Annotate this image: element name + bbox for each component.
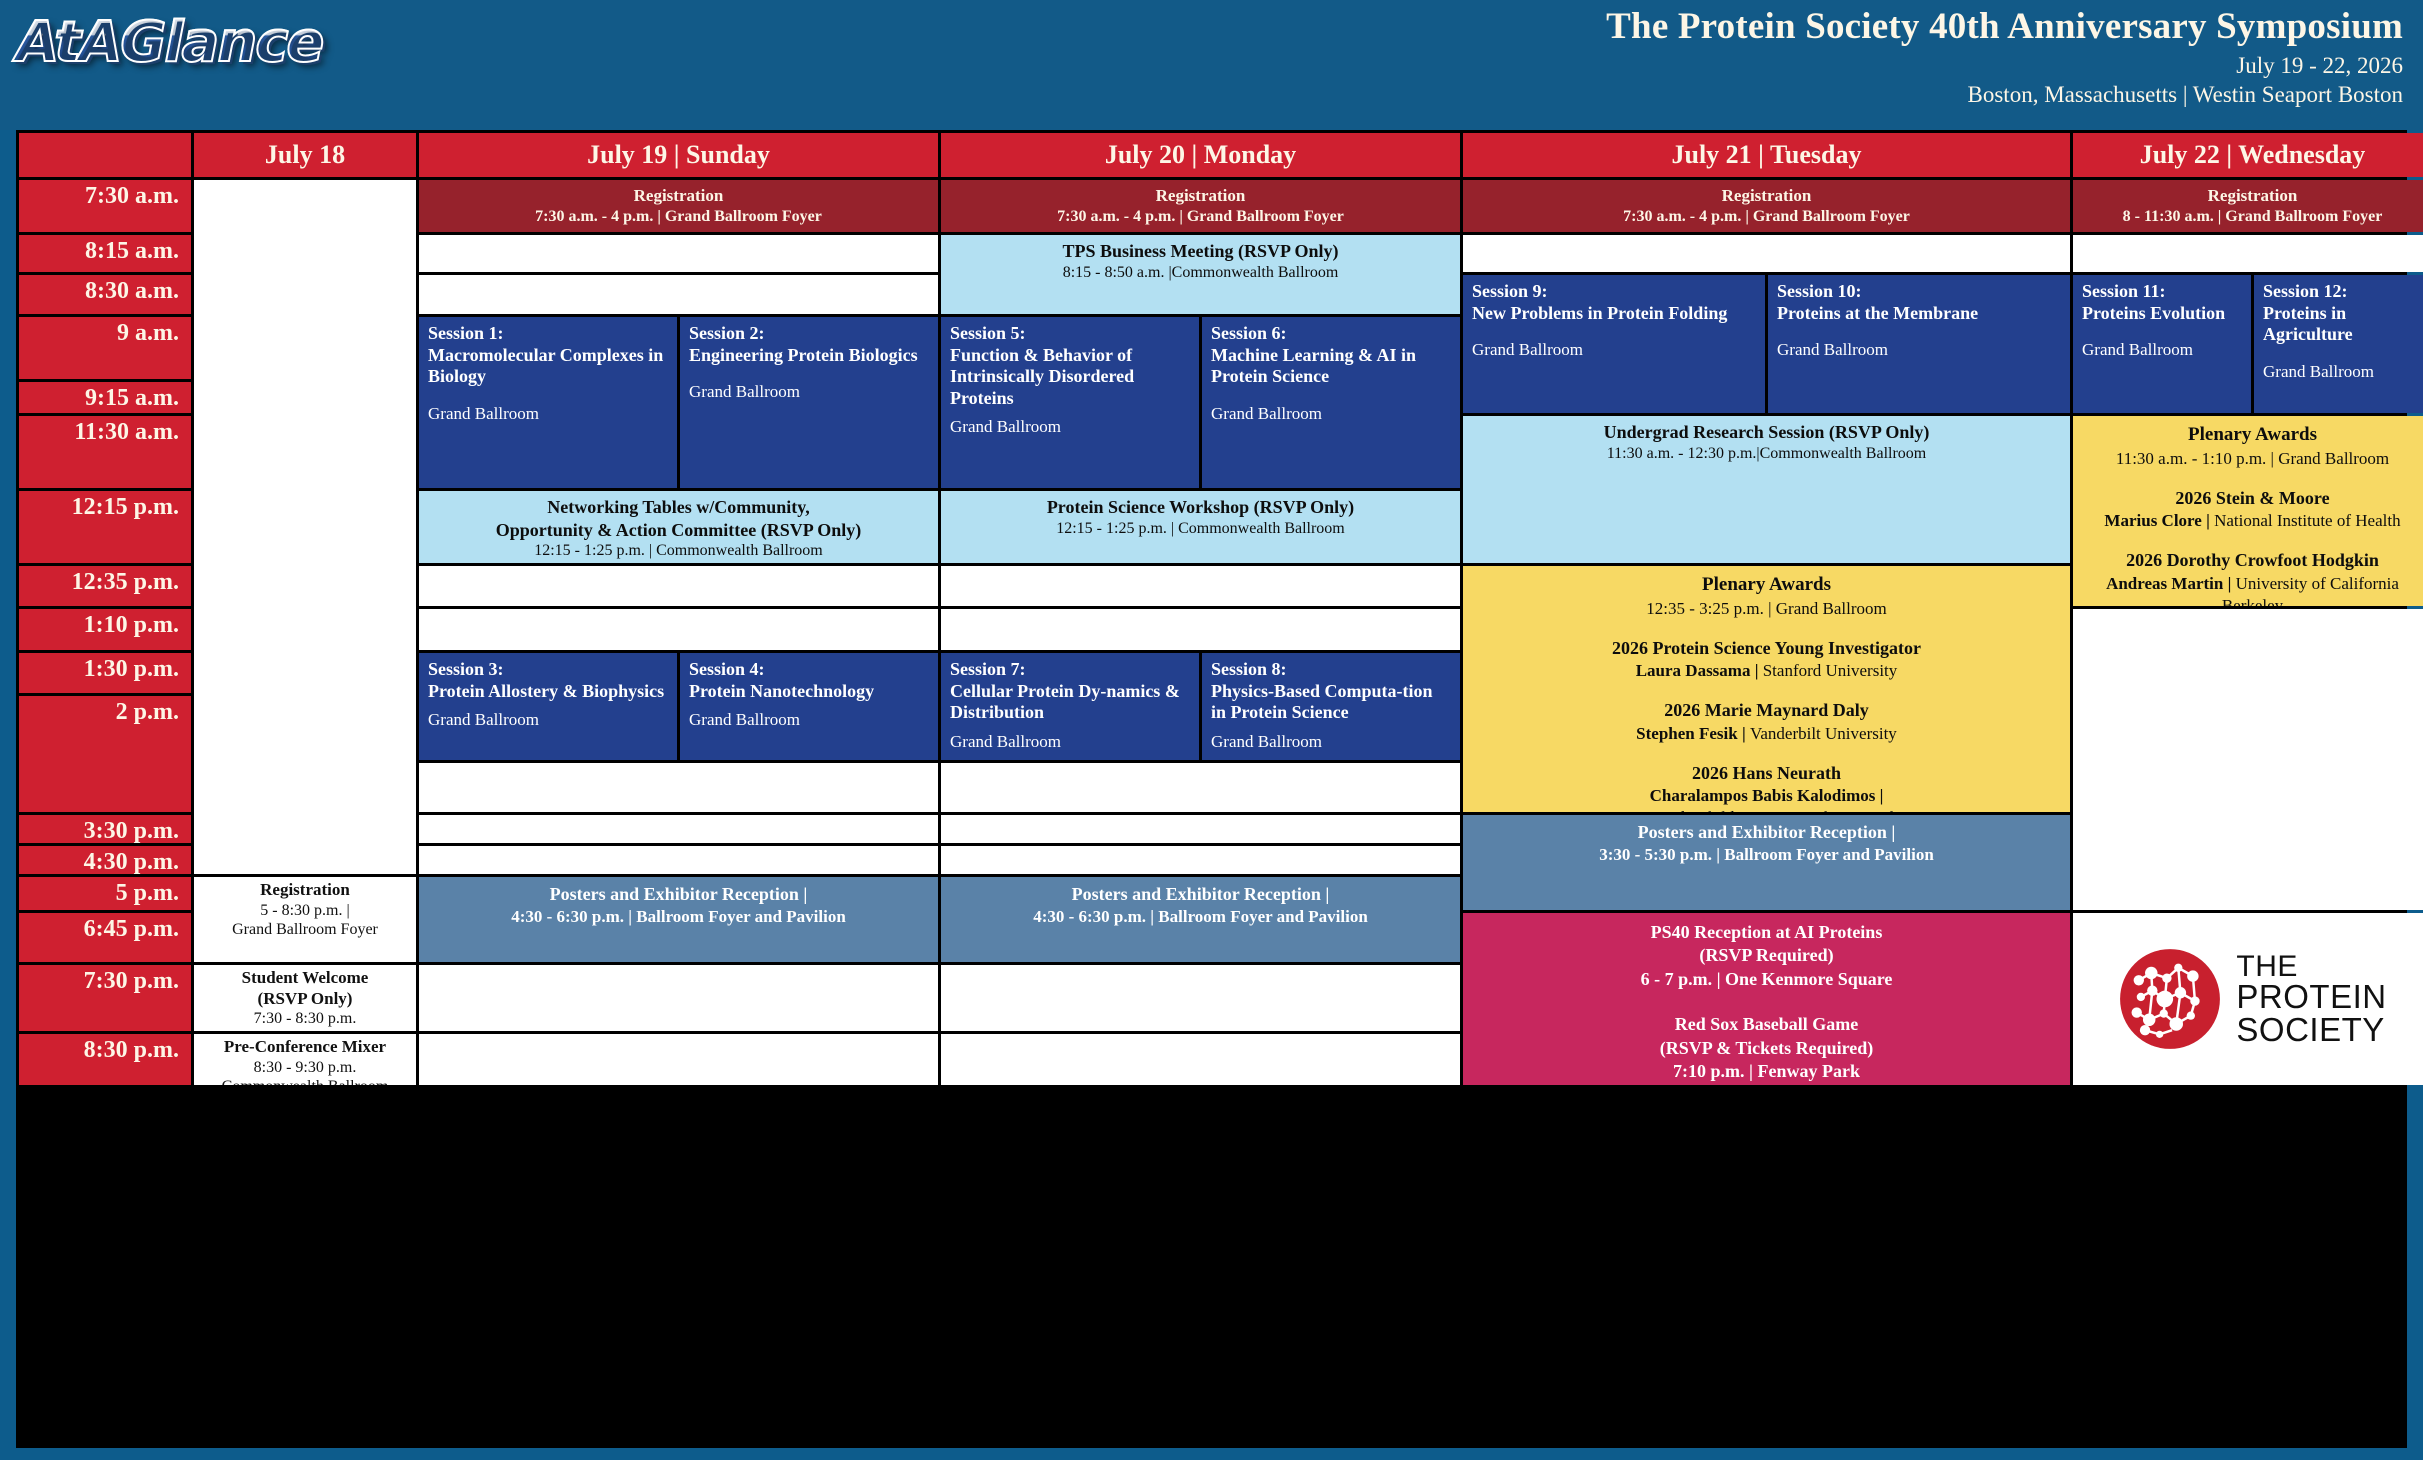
session-1-number: Session 1: [428,323,669,345]
sunday-networking-tables: Networking Tables w/Community, Opportuni… [419,491,938,563]
time-label-0815am: 8:15 a.m. [19,235,191,272]
monday-blank-0730pm [941,965,1460,1031]
tuesday-award-1-institution: Stanford University [1763,661,1898,680]
tuesday-award-3-name: 2026 Hans Neurath [1692,762,1841,785]
student-welcome-line2: (RSVP Only) [258,989,353,1010]
protein-society-mark-icon [2118,947,2222,1051]
sunday-blank-0330 [419,815,938,843]
wednesday-registration-detail: 8 - 11:30 a.m. | Grand Ballroom Foyer [2123,207,2383,227]
wednesday-award-2-name: 2026 Dorothy Crowfoot Hodgkin [2126,549,2379,572]
monday-blank-0430 [941,846,1460,874]
tuesday-award-1-name: 2026 Protein Science Young Investigator [1612,637,1921,660]
wednesday-session-11: Session 11: Proteins Evolution Grand Bal… [2073,275,2251,413]
time-label-1235pm: 12:35 p.m. [19,566,191,606]
at-a-glance-schedule-page: AtAGlance The Protein Society 40th Anniv… [0,0,2423,1460]
logo-word-protein: PROTEIN [2236,981,2386,1013]
sunday-blank-0110 [419,609,938,650]
wednesday-award-1-name: 2026 Stein & Moore [2175,487,2329,510]
monday-posters-reception: Posters and Exhibitor Reception | 4:30 -… [941,877,1460,962]
time-label-0830pm: 8:30 p.m. [19,1034,191,1085]
session-4-number: Session 4: [689,659,930,681]
session-1-name: Macromolecular Complexes in Biology [428,345,669,388]
wednesday-blank-0815 [2073,235,2423,272]
mixer-line2: 8:30 - 9:30 p.m. [254,1058,357,1078]
session-1-room: Grand Ballroom [428,404,669,424]
time-label-05pm: 5 p.m. [19,877,191,910]
monday-session-8: Session 8: Physics-Based Computa-tion in… [1202,653,1460,760]
wednesday-award-2-recipient: Andreas Martin | University of Californi… [2079,573,2423,606]
time-label-02pm: 2 p.m. [19,696,191,812]
tuesday-session-9: Session 9: New Problems in Protein Foldi… [1463,275,1765,413]
ps40-line2: (RSVP Required) [1699,944,1833,967]
sunday-registration-title: Registration [634,186,724,207]
monday-posters-title: Posters and Exhibitor Reception | [1072,883,1330,906]
session-2-name: Engineering Protein Biologics [689,345,930,367]
monday-protein-science-workshop: Protein Science Workshop (RSVP Only) 12:… [941,491,1460,563]
session-11-number: Session 11: [2082,281,2243,303]
wednesday-blank-afternoon [2073,609,2423,910]
redsox-line3: 7:10 p.m. | Fenway Park [1673,1060,1860,1083]
networking-detail: 12:15 - 1:25 p.m. | Commonwealth Ballroo… [534,541,823,561]
monday-registration: Registration 7:30 a.m. - 4 p.m. | Grand … [941,180,1460,232]
sunday-blank-0815 [419,235,938,272]
monday-blank-1235 [941,566,1460,606]
tuesday-award-1-sep: | [1750,661,1762,680]
session-5-room: Grand Ballroom [950,417,1191,437]
column-header-july18: July 18 [194,133,416,177]
sunday-session-2: Session 2: Engineering Protein Biologics… [680,317,938,488]
student-welcome-line4: Commonwealth Ballroom [222,1029,389,1031]
sunday-blank-0830pm [419,1034,938,1085]
july18-registration-line1: 5 - 8:30 p.m. | [260,901,349,921]
monday-blank-0830pm [941,1034,1460,1085]
july18-empty-morning [194,180,416,874]
time-label-0330pm: 3:30 p.m. [19,815,191,843]
session-10-number: Session 10: [1777,281,2062,303]
column-header-july21-tuesday: July 21 | Tuesday [1463,133,2070,177]
column-header-july22-wednesday: July 22 | Wednesday [2073,133,2423,177]
tuesday-blank-0815 [1463,235,2070,272]
sunday-registration: Registration 7:30 a.m. - 4 p.m. | Grand … [419,180,938,232]
session-12-number: Session 12: [2263,281,2423,303]
sunday-session-3: Session 3: Protein Allostery & Biophysic… [419,653,677,760]
tuesday-award-3-institution-line: St. Jude Children's Research Hospital [1639,807,1895,812]
sunday-blank-0830 [419,275,938,314]
protein-society-wordmark: THE PROTEIN SOCIETY [2236,952,2386,1046]
session-9-number: Session 9: [1472,281,1757,303]
networking-line2: Opportunity & Action Committee (RSVP Onl… [496,519,861,542]
mixer-line1: Pre-Conference Mixer [224,1037,386,1058]
session-6-room: Grand Ballroom [1211,404,1452,424]
tuesday-award-1-recipient: Laura Dassama | Stanford University [1636,660,1898,682]
session-11-room: Grand Ballroom [2082,340,2243,360]
session-7-room: Grand Ballroom [950,732,1191,752]
session-10-name: Proteins at the Membrane [1777,303,2062,325]
event-title: The Protein Society 40th Anniversary Sym… [1606,6,2403,49]
time-label-1215pm: 12:15 p.m. [19,491,191,563]
tuesday-posters-reception: Posters and Exhibitor Reception | 3:30 -… [1463,815,2070,910]
tuesday-award-1-person: Laura Dassama [1636,661,1751,680]
ps40-line3: 6 - 7 p.m. | One Kenmore Square [1641,968,1893,991]
time-label-09am: 9 a.m. [19,317,191,379]
tuesday-session-10: Session 10: Proteins at the Membrane Gra… [1768,275,2070,413]
at-a-glance-logo: AtAGlance [16,10,322,75]
session-6-name: Machine Learning & AI in Protein Science [1211,345,1452,388]
time-label-0830am: 8:30 a.m. [19,275,191,314]
column-header-july20-monday: July 20 | Monday [941,133,1460,177]
time-label-0130pm: 1:30 p.m. [19,653,191,693]
time-label-0645pm: 6:45 p.m. [19,913,191,962]
student-welcome-line1: Student Welcome [242,968,369,989]
tuesday-registration-title: Registration [1722,186,1812,207]
session-3-room: Grand Ballroom [428,710,669,730]
sunday-blank-1235 [419,566,938,606]
sunday-blank-afternoon [419,763,938,812]
sunday-session-4: Session 4: Protein Nanotechnology Grand … [680,653,938,760]
session-7-number: Session 7: [950,659,1191,681]
time-label-1130am: 11:30 a.m. [19,416,191,488]
tuesday-award-3-person: Charalampos Babis Kalodimos | [1650,786,1884,805]
wednesday-plenary-detail: 11:30 a.m. - 1:10 p.m. | Grand Ballroom [2116,448,2389,470]
tps-business-title: TPS Business Meeting (RSVP Only) [1062,240,1338,263]
session-8-room: Grand Ballroom [1211,732,1452,752]
redsox-line2: (RSVP & Tickets Required) [1660,1037,1874,1060]
monday-session-5: Session 5: Function & Behavior of Intrin… [941,317,1199,488]
session-6-number: Session 6: [1211,323,1452,345]
session-3-number: Session 3: [428,659,669,681]
time-label-0730pm: 7:30 p.m. [19,965,191,1031]
sunday-blank-0430 [419,846,938,874]
monday-tps-business-meeting: TPS Business Meeting (RSVP Only) 8:15 - … [941,235,1460,314]
tuesday-award-3-institution: St. Jude Children's Research Hospital [1639,808,1895,812]
wednesday-award-2-institution: University of California Berkeley [2222,574,2399,606]
sunday-session-1: Session 1: Macromolecular Complexes in B… [419,317,677,488]
page-header: AtAGlance The Protein Society 40th Anniv… [0,0,2423,130]
event-dates: July 19 - 22, 2026 [1606,51,2403,81]
tuesday-registration-detail: 7:30 a.m. - 4 p.m. | Grand Ballroom Foye… [1623,207,1910,227]
monday-posters-detail: 4:30 - 6:30 p.m. | Ballroom Foyer and Pa… [1033,906,1368,927]
session-3-name: Protein Allostery & Biophysics [428,681,669,703]
time-label-0915am: 9:15 a.m. [19,382,191,413]
sunday-posters-title: Posters and Exhibitor Reception | [550,883,808,906]
sunday-registration-detail: 7:30 a.m. - 4 p.m. | Grand Ballroom Foye… [535,207,822,227]
monday-blank-0330 [941,815,1460,843]
session-5-name: Function & Behavior of Intrinsically Dis… [950,345,1191,410]
protein-society-logo: THE PROTEIN SOCIETY [2073,913,2423,1085]
session-4-room: Grand Ballroom [689,710,930,730]
tuesday-registration: Registration 7:30 a.m. - 4 p.m. | Grand … [1463,180,2070,232]
session-4-name: Protein Nanotechnology [689,681,930,703]
session-9-name: New Problems in Protein Folding [1472,303,1757,325]
student-welcome-line3: 7:30 - 8:30 p.m. [254,1009,357,1029]
wednesday-award-1-recipient: Marius Clore | National Institute of Hea… [2104,510,2400,532]
monday-session-7: Session 7: Cellular Protein Dy-namics & … [941,653,1199,760]
tuesday-plenary-awards: Plenary Awards 12:35 - 3:25 p.m. | Grand… [1463,566,2070,812]
sunday-blank-0730pm [419,965,938,1031]
ps40-line1: PS40 Reception at AI Proteins [1651,921,1883,944]
july18-registration-line2: Grand Ballroom Foyer [232,920,378,940]
tuesday-ps40-reception: PS40 Reception at AI Proteins (RSVP Requ… [1463,913,2070,1085]
tuesday-award-2-sep: | [1738,724,1750,743]
tuesday-plenary-detail: 12:35 - 3:25 p.m. | Grand Ballroom [1646,598,1886,620]
tuesday-award-2-person: Stephen Fesik [1636,724,1738,743]
session-12-name: Proteins in Agriculture [2263,303,2423,346]
monday-blank-0110 [941,609,1460,650]
networking-line1: Networking Tables w/Community, [547,496,810,519]
tuesday-plenary-title: Plenary Awards [1702,573,1831,598]
session-2-number: Session 2: [689,323,930,345]
tps-business-detail: 8:15 - 8:50 a.m. |Commonwealth Ballroom [1063,263,1339,283]
wednesday-award-1-institution: National Institute of Health [2214,511,2400,530]
session-12-room: Grand Ballroom [2263,362,2423,382]
session-2-room: Grand Ballroom [689,382,930,402]
mixer-line3: Commonwealth Ballroom [222,1077,389,1085]
schedule-grid: July 18 July 19 | Sunday July 20 | Monda… [16,130,2407,1448]
tuesday-award-2-name: 2026 Marie Maynard Daly [1664,699,1868,722]
july18-student-welcome: Student Welcome (RSVP Only) 7:30 - 8:30 … [194,965,416,1031]
sunday-posters-reception: Posters and Exhibitor Reception | 4:30 -… [419,877,938,962]
logo-word-the: THE [2236,952,2386,981]
session-8-name: Physics-Based Computa-tion in Protein Sc… [1211,681,1452,724]
wednesday-registration-title: Registration [2208,186,2298,207]
monday-blank-afternoon [941,763,1460,812]
workshop-title: Protein Science Workshop (RSVP Only) [1047,496,1354,519]
tuesday-award-2-institution: Vanderbilt University [1750,724,1897,743]
session-7-name: Cellular Protein Dy-namics & Distributio… [950,681,1191,724]
undergrad-title: Undergrad Research Session (RSVP Only) [1604,421,1930,444]
workshop-detail: 12:15 - 1:25 p.m. | Commonwealth Ballroo… [1056,519,1345,539]
grid-corner-blank [19,133,191,177]
event-location: Boston, Massachusetts | Westin Seaport B… [1606,80,2403,110]
logo-word-society: SOCIETY [2236,1014,2386,1046]
monday-session-6: Session 6: Machine Learning & AI in Prot… [1202,317,1460,488]
wednesday-plenary-awards: Plenary Awards 11:30 a.m. - 1:10 p.m. | … [2073,416,2423,606]
session-5-number: Session 5: [950,323,1191,345]
session-11-name: Proteins Evolution [2082,303,2243,325]
event-title-block: The Protein Society 40th Anniversary Sym… [1606,6,2403,110]
tuesday-undergrad-research-session: Undergrad Research Session (RSVP Only) 1… [1463,416,2070,563]
time-label-0430pm: 4:30 p.m. [19,846,191,874]
time-label-0110pm: 1:10 p.m. [19,609,191,650]
wednesday-registration: Registration 8 - 11:30 a.m. | Grand Ball… [2073,180,2423,232]
sunday-posters-detail: 4:30 - 6:30 p.m. | Ballroom Foyer and Pa… [511,906,846,927]
july18-registration-title: Registration [260,880,350,901]
session-10-room: Grand Ballroom [1777,340,2062,360]
july18-registration: Registration 5 - 8:30 p.m. | Grand Ballr… [194,877,416,962]
time-label-0730am: 7:30 a.m. [19,180,191,232]
session-9-room: Grand Ballroom [1472,340,1757,360]
tuesday-posters-detail: 3:30 - 5:30 p.m. | Ballroom Foyer and Pa… [1599,844,1934,865]
july18-preconference-mixer: Pre-Conference Mixer 8:30 - 9:30 p.m. Co… [194,1034,416,1085]
monday-registration-title: Registration [1156,186,1246,207]
wednesday-award-1-sep: | [2202,511,2214,530]
wednesday-award-2-person: Andreas Martin [2106,574,2223,593]
monday-registration-detail: 7:30 a.m. - 4 p.m. | Grand Ballroom Foye… [1057,207,1344,227]
column-header-july19-sunday: July 19 | Sunday [419,133,938,177]
tuesday-posters-title: Posters and Exhibitor Reception | [1638,821,1896,844]
wednesday-plenary-title: Plenary Awards [2188,423,2317,448]
undergrad-detail: 11:30 a.m. - 12:30 p.m.|Commonwealth Bal… [1607,444,1926,464]
wednesday-session-12: Session 12: Proteins in Agriculture Gran… [2254,275,2423,413]
wednesday-award-1-person: Marius Clore [2104,511,2201,530]
redsox-line1: Red Sox Baseball Game [1675,1013,1859,1036]
session-8-number: Session 8: [1211,659,1452,681]
tuesday-award-2-recipient: Stephen Fesik | Vanderbilt University [1636,723,1897,745]
wednesday-award-2-sep: | [2223,574,2235,593]
tuesday-award-3-recipient: Charalampos Babis Kalodimos | [1650,785,1884,807]
